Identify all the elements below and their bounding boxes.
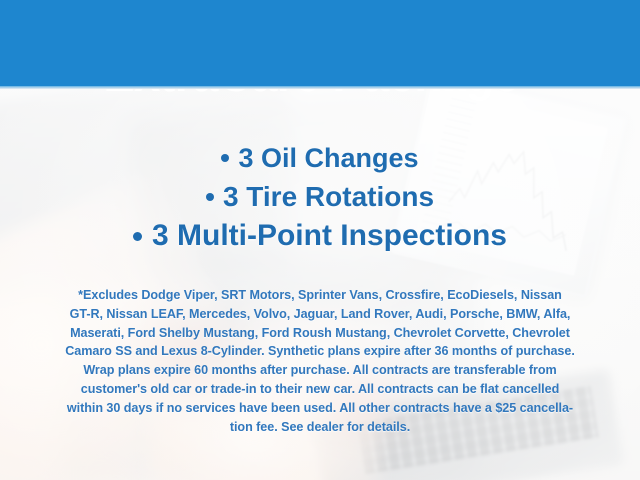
list-item-label: 3 Tire Rotations	[223, 181, 434, 212]
bullet-dot-icon	[133, 232, 142, 241]
header-banner	[0, 0, 640, 86]
bullet-dot-icon	[206, 193, 214, 201]
disclaimer-line: tion fee. See dealer for details.	[28, 418, 612, 437]
disclaimer-line: Maserati, Ford Shelby Mustang, Ford Rous…	[28, 324, 612, 343]
disclaimer-line: Camaro SS and Lexus 8-Cylinder. Syntheti…	[28, 342, 612, 361]
disclaimer-line: GT-R, Nissan LEAF, Mercedes, Volvo, Jagu…	[28, 305, 612, 324]
disclaimer-line: customer's old car or trade-in to their …	[28, 380, 612, 399]
bullet-dot-icon	[221, 154, 229, 162]
disclaimer-text: *Excludes Dodge Viper, SRT Motors, Sprin…	[28, 286, 612, 436]
list-item-label: 3 Oil Changes	[238, 143, 418, 173]
header-divider	[0, 86, 640, 89]
list-item: 3 Oil Changes	[0, 138, 640, 176]
list-item-label: 3 Multi-Point Inspections	[152, 219, 507, 252]
disclaimer-line: *Excludes Dodge Viper, SRT Motors, Sprin…	[28, 286, 612, 305]
disclaimer-line: Wrap plans expire 60 months after purcha…	[28, 361, 612, 380]
disclaimer-line: within 30 days if no services have been …	[28, 399, 612, 418]
list-item: 3 Multi-Point Inspections	[0, 215, 640, 256]
extracare-package-poster: ExtraCare Package* 3 Oil Changes 3 Tire …	[0, 0, 640, 480]
included-services-list: 3 Oil Changes 3 Tire Rotations 3 Multi-P…	[0, 138, 640, 256]
list-item: 3 Tire Rotations	[0, 176, 640, 215]
